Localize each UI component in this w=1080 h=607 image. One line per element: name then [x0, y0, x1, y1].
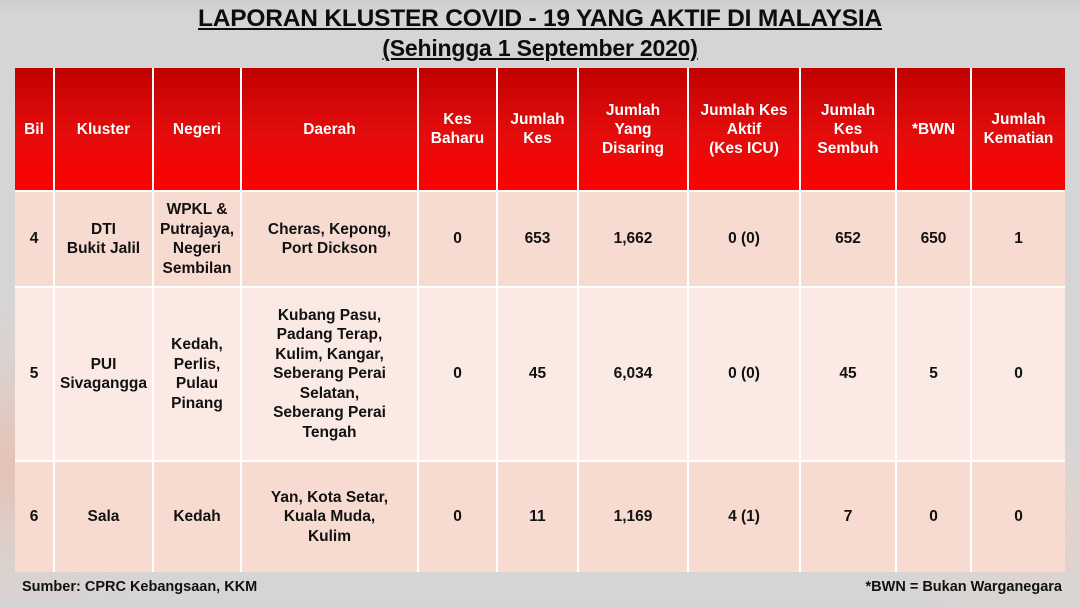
cell-kes-baharu: 0 — [419, 288, 498, 462]
cell-line: Negeri — [157, 239, 237, 259]
cell-kluster: DTI Bukit Jalil — [55, 192, 154, 288]
cell-line: Seberang Perai — [245, 403, 414, 423]
cell-line: Pulau — [157, 374, 237, 394]
column-header-jumlah-disaring: Jumlah Yang Disaring — [579, 68, 689, 192]
title-line-main: LAPORAN KLUSTER COVID - 19 YANG AKTIF DI… — [198, 4, 882, 34]
cell-jumlah-kes-aktif: 0 (0) — [689, 288, 801, 462]
cell-daerah: Kubang Pasu, Padang Terap, Kulim, Kangar… — [242, 288, 419, 462]
cell-jumlah-kes-aktif: 4 (1) — [689, 462, 801, 572]
column-header-bwn: *BWN — [897, 68, 972, 192]
header-line: (Kes ICU) — [692, 139, 796, 158]
cell-jumlah-kes-sembuh: 652 — [801, 192, 897, 288]
cell-line: Kulim, Kangar, — [245, 345, 414, 365]
cell-kluster: PUI Sivagangga — [55, 288, 154, 462]
header-line: Jumlah — [501, 110, 574, 129]
cell-line: Kedah — [157, 507, 237, 527]
cell-kluster: Sala — [55, 462, 154, 572]
table-row: 4 DTI Bukit Jalil WPKL & Putrajaya, Nege… — [15, 192, 1065, 288]
cell-line: WPKL & — [157, 200, 237, 220]
header-line: Jumlah Kes — [692, 101, 796, 120]
header-line: Disaring — [582, 139, 684, 158]
header-line: Sembuh — [804, 139, 892, 158]
cell-kes-baharu: 0 — [419, 192, 498, 288]
header-line: Kematian — [975, 129, 1062, 148]
cell-line: Sala — [58, 507, 149, 527]
cell-line: Yan, Kota Setar, — [245, 488, 414, 508]
cell-line: Tengah — [245, 423, 414, 443]
header-line: Kes — [422, 110, 493, 129]
column-header-bil: Bil — [15, 68, 55, 192]
cell-bwn: 5 — [897, 288, 972, 462]
cell-line: Selatan, — [245, 384, 414, 404]
header-line: *BWN — [900, 120, 967, 139]
column-header-kluster: Kluster — [55, 68, 154, 192]
table-row: 6 Sala Kedah Yan, Kota Setar, Kuala Muda… — [15, 462, 1065, 572]
header-line: Jumlah — [804, 101, 892, 120]
cell-jumlah-kematian: 0 — [972, 462, 1065, 572]
cell-line: Putrajaya, — [157, 220, 237, 240]
cell-line: Sivagangga — [58, 374, 149, 394]
cell-line: Kuala Muda, — [245, 507, 414, 527]
header-line: Kes — [804, 120, 892, 139]
cell-negeri: Kedah, Perlis, Pulau Pinang — [154, 288, 242, 462]
cell-jumlah-kes: 653 — [498, 192, 579, 288]
cell-jumlah-kes-sembuh: 7 — [801, 462, 897, 572]
cell-negeri: WPKL & Putrajaya, Negeri Sembilan — [154, 192, 242, 288]
cell-line: Port Dickson — [245, 239, 414, 259]
header-line: Yang — [582, 120, 684, 139]
cell-line: Bukit Jalil — [58, 239, 149, 259]
cell-line: Seberang Perai — [245, 364, 414, 384]
table-header-row: Bil Kluster Negeri Daerah Kes Baharu Jum… — [15, 68, 1065, 192]
cell-jumlah-kes-sembuh: 45 — [801, 288, 897, 462]
table-body: 4 DTI Bukit Jalil WPKL & Putrajaya, Nege… — [15, 192, 1065, 572]
cell-jumlah-disaring: 6,034 — [579, 288, 689, 462]
header-line: Negeri — [157, 120, 237, 139]
cell-line: DTI — [58, 220, 149, 240]
header-line: Daerah — [245, 120, 414, 139]
footer-source-text: Sumber: CPRC Kebangsaan, KKM — [22, 579, 257, 595]
cell-line: Pinang — [157, 394, 237, 414]
header-line: Kes — [501, 129, 574, 148]
column-header-kes-baharu: Kes Baharu — [419, 68, 498, 192]
header-line: Jumlah — [975, 110, 1062, 129]
header-line: Jumlah — [582, 101, 684, 120]
table-header: Bil Kluster Negeri Daerah Kes Baharu Jum… — [15, 68, 1065, 192]
cell-bil: 5 — [15, 288, 55, 462]
cell-kes-baharu: 0 — [419, 462, 498, 572]
title-line-sub: (Sehingga 1 September 2020) — [382, 34, 697, 63]
header-line: Aktif — [692, 120, 796, 139]
cell-bwn: 0 — [897, 462, 972, 572]
cell-line: Perlis, — [157, 355, 237, 375]
cell-daerah: Cheras, Kepong, Port Dickson — [242, 192, 419, 288]
column-header-jumlah-kes-sembuh: Jumlah Kes Sembuh — [801, 68, 897, 192]
cell-negeri: Kedah — [154, 462, 242, 572]
cell-line: Padang Terap, — [245, 325, 414, 345]
table-row: 5 PUI Sivagangga Kedah, Perlis, Pulau Pi… — [15, 288, 1065, 462]
cell-daerah: Yan, Kota Setar, Kuala Muda, Kulim — [242, 462, 419, 572]
cell-bil: 4 — [15, 192, 55, 288]
cell-jumlah-kematian: 1 — [972, 192, 1065, 288]
cell-jumlah-disaring: 1,662 — [579, 192, 689, 288]
cell-line: Sembilan — [157, 259, 237, 279]
cell-line: Kulim — [245, 527, 414, 547]
cell-jumlah-kes: 45 — [498, 288, 579, 462]
footer-bwn-note: *BWN = Bukan Warganegara — [866, 579, 1062, 595]
column-header-daerah: Daerah — [242, 68, 419, 192]
page-title: LAPORAN KLUSTER COVID - 19 YANG AKTIF DI… — [0, 4, 1080, 63]
slide-canvas: LAPORAN KLUSTER COVID - 19 YANG AKTIF DI… — [0, 0, 1080, 607]
column-header-jumlah-kes-aktif: Jumlah Kes Aktif (Kes ICU) — [689, 68, 801, 192]
column-header-jumlah-kes: Jumlah Kes — [498, 68, 579, 192]
cell-jumlah-kes: 11 — [498, 462, 579, 572]
cell-jumlah-kematian: 0 — [972, 288, 1065, 462]
cluster-report-table: Bil Kluster Negeri Daerah Kes Baharu Jum… — [15, 68, 1065, 572]
cell-line: Cheras, Kepong, — [245, 220, 414, 240]
column-header-negeri: Negeri — [154, 68, 242, 192]
header-line: Baharu — [422, 129, 493, 148]
cell-line: PUI — [58, 355, 149, 375]
cell-jumlah-disaring: 1,169 — [579, 462, 689, 572]
column-header-jumlah-kematian: Jumlah Kematian — [972, 68, 1065, 192]
footer: Sumber: CPRC Kebangsaan, KKM *BWN = Buka… — [0, 573, 1080, 607]
header-line: Bil — [18, 120, 50, 139]
cell-bwn: 650 — [897, 192, 972, 288]
cell-jumlah-kes-aktif: 0 (0) — [689, 192, 801, 288]
header-line: Kluster — [58, 120, 149, 139]
cell-line: Kedah, — [157, 335, 237, 355]
cell-bil: 6 — [15, 462, 55, 572]
cell-line: Kubang Pasu, — [245, 306, 414, 326]
